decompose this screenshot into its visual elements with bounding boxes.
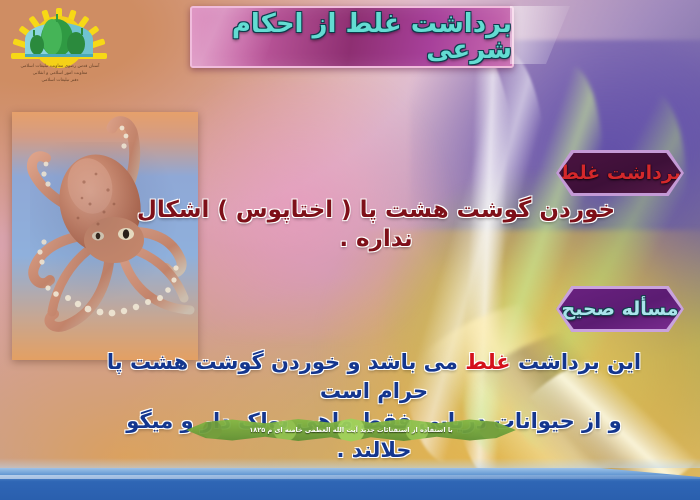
bottom-blue-bar bbox=[0, 468, 700, 500]
footer-ornament-band: با استفاده از استفتائات جدید آیت الله ال… bbox=[186, 418, 516, 442]
badge-correct-ruling-label: مسأله صحیح bbox=[562, 300, 679, 319]
ruling-line1-after: می باشد و خوردن گوشت هشت پا حرام است bbox=[107, 350, 465, 403]
poster-canvas: آستان قدس رضوی معاونت تبلیغات اسلامی معا… bbox=[0, 0, 700, 500]
correct-ruling-statement: این برداشت غلط می باشد و خوردن گوشت هشت … bbox=[94, 348, 654, 466]
page-title: برداشت غلط از احکام شرعی bbox=[192, 11, 512, 63]
organization-logo: آستان قدس رضوی معاونت تبلیغات اسلامی معا… bbox=[4, 2, 114, 106]
badge-wrong-assumption-inner: برداشت غلط bbox=[559, 153, 681, 193]
badge-correct-ruling-inner: مسأله صحیح bbox=[559, 289, 681, 329]
logo-caption: آستان قدس رضوی معاونت تبلیغات اسلامی معا… bbox=[10, 64, 110, 84]
ruling-line1-before: این برداشت bbox=[511, 350, 641, 374]
ruling-highlight-word: غلط bbox=[465, 350, 510, 374]
wrong-assumption-statement: خوردن گوشت هشت پا ( اختاپوس ) اشکال ندار… bbox=[118, 196, 634, 254]
poster-header-banner: برداشت غلط از احکام شرعی bbox=[190, 6, 514, 68]
footer-source-note: با استفاده از استفتائات جدید آیت الله ال… bbox=[249, 426, 452, 434]
badge-wrong-assumption-label: برداشت غلط bbox=[559, 164, 681, 183]
badge-correct-ruling: مسأله صحیح bbox=[556, 286, 684, 332]
badge-wrong-assumption: برداشت غلط bbox=[556, 150, 684, 196]
bottom-bar-top-shade bbox=[0, 458, 700, 468]
correct-ruling-line-1: این برداشت غلط می باشد و خوردن گوشت هشت … bbox=[94, 348, 654, 407]
